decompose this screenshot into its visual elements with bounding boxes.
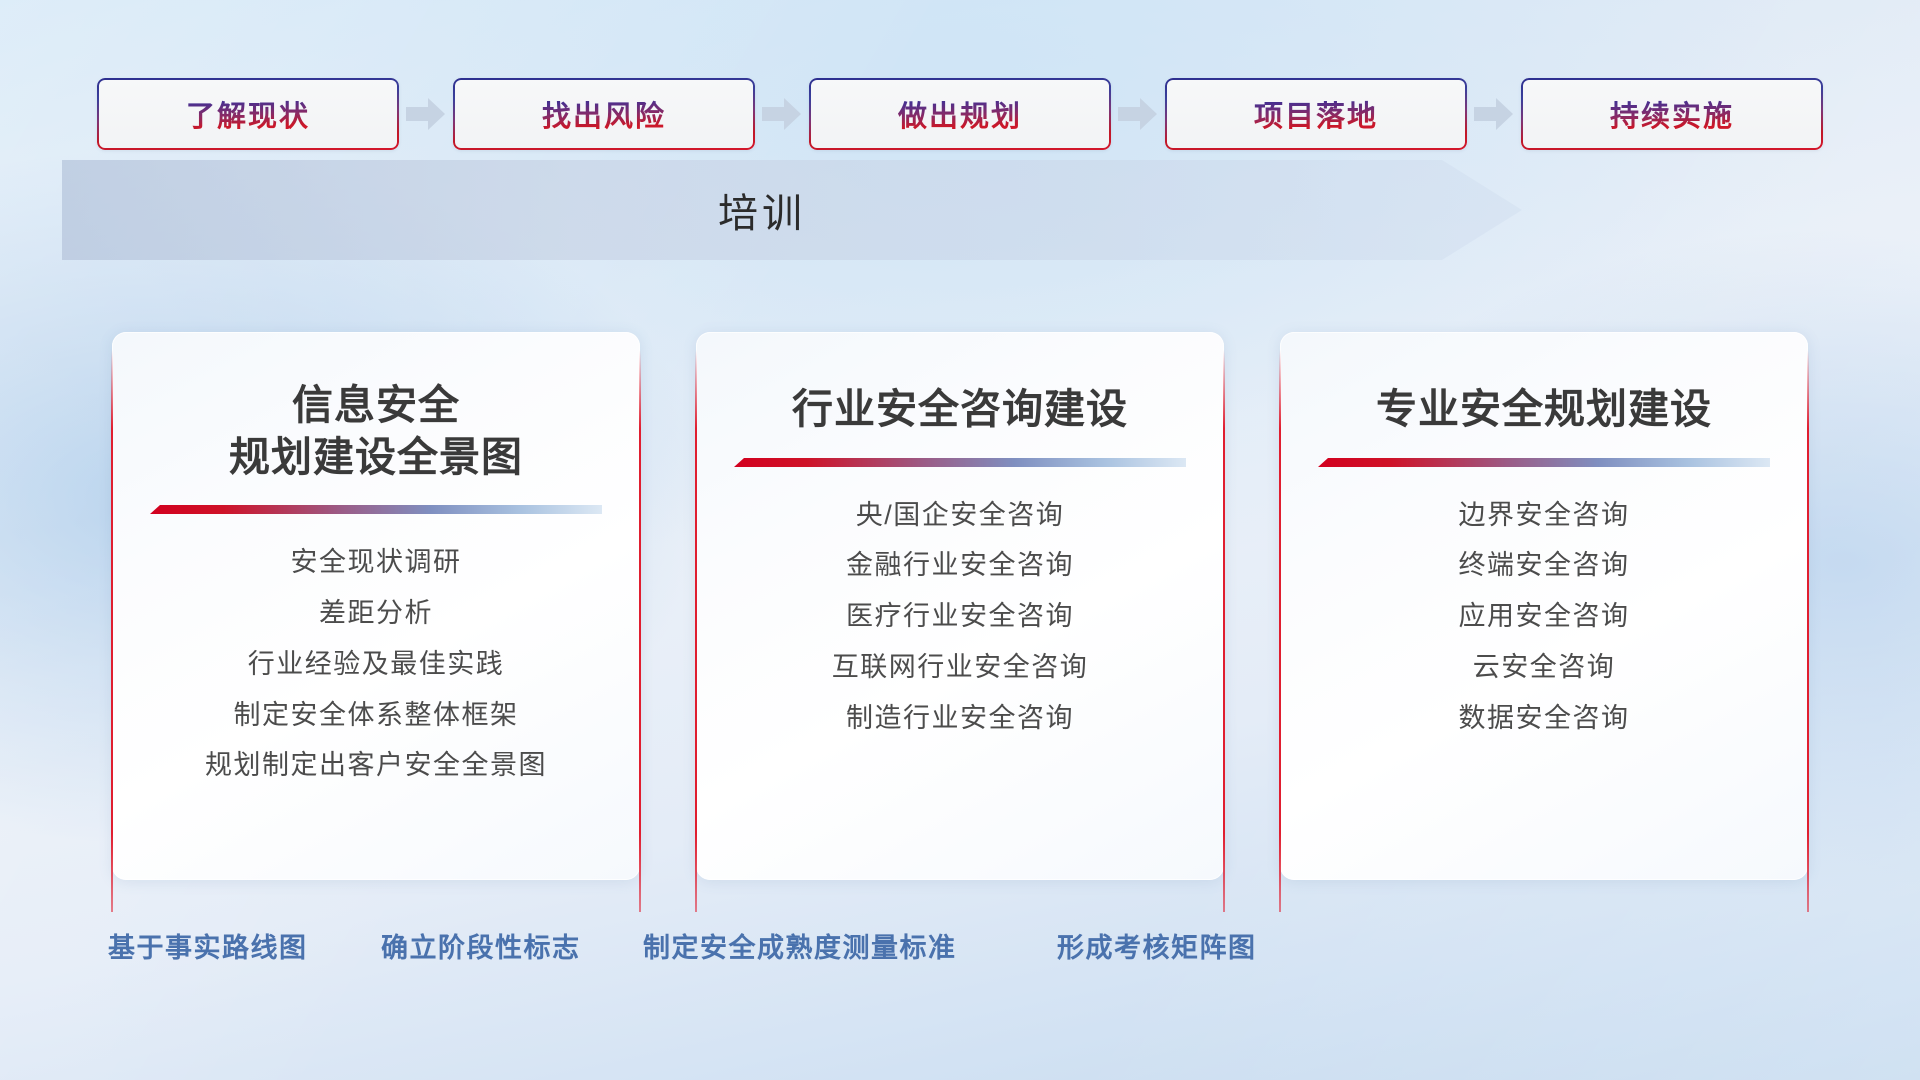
title-divider [734, 458, 1186, 469]
step-label: 项目落地 [1254, 93, 1378, 135]
step-label: 做出规划 [898, 93, 1022, 135]
process-steps: 了解现状 找出风险 做出规划 项目落地 [0, 78, 1920, 150]
step-label: 找出风险 [542, 93, 666, 135]
card-list: 央/国企安全咨询 金融行业安全咨询 医疗行业安全咨询 互联网行业安全咨询 制造行… [730, 499, 1190, 736]
training-banner: 培训 [62, 160, 1522, 260]
caption-maturity-scale: 制定安全成熟度测量标准 [643, 926, 957, 965]
slide-canvas: 了解现状 找出风险 做出规划 项目落地 [0, 0, 1920, 1080]
list-item: 行业经验及最佳实践 [248, 648, 505, 682]
list-item: 终端安全咨询 [1459, 549, 1630, 583]
card-group: 信息安全 规划建设全景图 [0, 332, 1920, 880]
list-item: 规划制定出客户安全全景图 [205, 749, 547, 783]
step-item-1[interactable]: 了解现状 [97, 78, 399, 150]
list-item: 安全现状调研 [291, 546, 462, 580]
card-info-security-blueprint[interactable]: 信息安全 规划建设全景图 [112, 332, 640, 880]
caption-roadmap: 基于事实路线图 [108, 926, 308, 965]
title-divider [1318, 458, 1770, 469]
list-item: 应用安全咨询 [1459, 600, 1630, 634]
list-item: 云安全咨询 [1473, 651, 1616, 685]
list-item: 制造行业安全咨询 [846, 702, 1074, 736]
card-title: 信息安全 规划建设全景图 [229, 380, 523, 483]
step-item-5[interactable]: 持续实施 [1521, 78, 1823, 150]
step-label: 持续实施 [1610, 93, 1734, 135]
card-title: 行业安全咨询建设 [792, 384, 1128, 436]
card-professional-security-planning[interactable]: 专业安全规划建设 [1280, 332, 1808, 880]
list-item: 差距分析 [319, 597, 433, 631]
arrow-right-icon [755, 78, 809, 150]
caption-milestones: 确立阶段性标志 [381, 926, 581, 965]
list-item: 金融行业安全咨询 [846, 549, 1074, 583]
list-item: 医疗行业安全咨询 [846, 600, 1074, 634]
list-item: 数据安全咨询 [1459, 702, 1630, 736]
arrow-right-icon [1111, 78, 1165, 150]
banner-title: 培训 [62, 160, 1462, 260]
list-item: 制定安全体系整体框架 [234, 699, 519, 733]
card-industry-security-consulting[interactable]: 行业安全咨询建设 [696, 332, 1224, 880]
arrow-right-icon [1467, 78, 1521, 150]
step-item-2[interactable]: 找出风险 [453, 78, 755, 150]
arrow-right-icon [399, 78, 453, 150]
caption-kpi-matrix: 形成考核矩阵图 [1057, 926, 1257, 965]
list-item: 央/国企安全咨询 [856, 499, 1065, 533]
card-title: 专业安全规划建设 [1376, 384, 1712, 436]
title-divider [150, 505, 602, 516]
caption-row: 基于事实路线图 确立阶段性标志 制定安全成熟度测量标准 形成考核矩阵图 [0, 926, 1920, 970]
card-list: 边界安全咨询 终端安全咨询 应用安全咨询 云安全咨询 数据安全咨询 [1314, 499, 1774, 736]
step-label: 了解现状 [186, 93, 310, 135]
step-item-4[interactable]: 项目落地 [1165, 78, 1467, 150]
step-item-3[interactable]: 做出规划 [809, 78, 1111, 150]
card-list: 安全现状调研 差距分析 行业经验及最佳实践 制定安全体系整体框架 规划制定出客户… [146, 546, 606, 783]
list-item: 互联网行业安全咨询 [832, 651, 1089, 685]
list-item: 边界安全咨询 [1459, 499, 1630, 533]
